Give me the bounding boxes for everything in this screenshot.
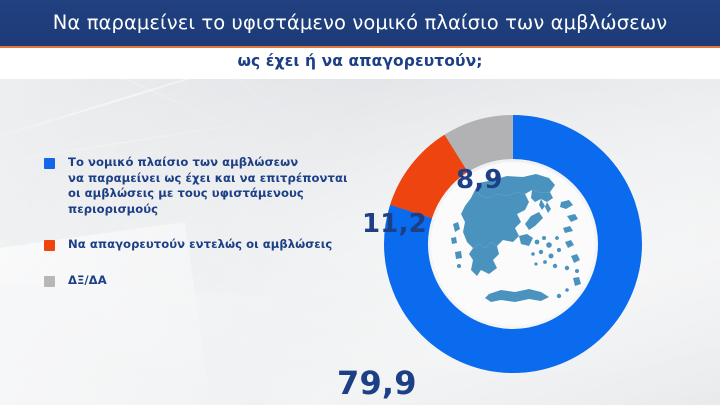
backdrop-streak — [0, 79, 283, 147]
legend-item-dont-know[interactable]: ΔΞ/ΔΑ — [44, 273, 394, 289]
backdrop-streak — [39, 79, 240, 131]
legend-swatch-grey-icon — [44, 276, 55, 287]
legend-swatch-blue-icon — [44, 158, 55, 169]
legend-item-label: ΔΞ/ΔΑ — [68, 273, 107, 289]
legend-item-ban-abortions[interactable]: Να απαγορευτούν εντελώς οι αμβλώσεις — [44, 237, 394, 253]
poll-result-slide: Να παραμείνει το υφιστάμενο νομικό πλαίσ… — [0, 0, 720, 405]
value-label-ban-abortions: 11,2 — [362, 209, 427, 239]
legend-item-label: Να απαγορευτούν εντελώς οι αμβλώσεις — [68, 237, 332, 253]
value-label-dont-know: 8,9 — [456, 165, 503, 195]
page-title: Να παραμείνει το υφιστάμενο νομικό πλαίσ… — [0, 11, 720, 34]
legend-item-keep-current-framework[interactable]: Το νομικό πλαίσιο των αμβλώσεων να παραμ… — [44, 155, 394, 217]
legend-swatch-orange-icon — [44, 240, 55, 251]
donut-chart — [379, 110, 647, 378]
chart-legend: Το νομικό πλαίσιο των αμβλώσεων να παραμ… — [44, 155, 394, 309]
backdrop-streak — [143, 79, 307, 136]
page-subtitle: ως έχει ή να απαγορευτούν; — [0, 52, 720, 70]
legend-item-label: Το νομικό πλαίσιο των αμβλώσεων να παραμ… — [68, 155, 394, 217]
chart-stage: Το νομικό πλαίσιο των αμβλώσεων να παραμ… — [0, 79, 720, 405]
value-label-keep-current-framework: 79,9 — [337, 364, 417, 402]
